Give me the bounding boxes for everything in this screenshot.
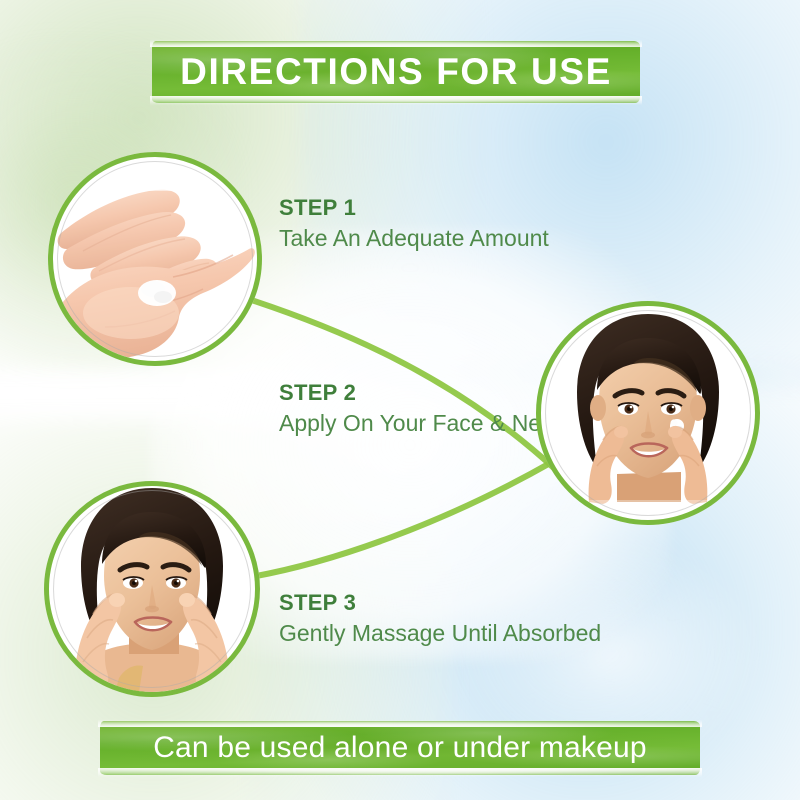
step-1-photo — [53, 157, 257, 361]
step-2-text-block: STEP 2 Apply On Your Face & Neck — [279, 381, 564, 437]
step-2-image-circle — [536, 301, 760, 525]
step-1-text-block: STEP 1 Take An Adequate Amount — [279, 196, 549, 252]
directions-for-use-poster: DIRECTIONS FOR USE — [0, 0, 800, 800]
footer-banner: Can be used alone or under makeup — [100, 721, 700, 775]
step-3-image-circle — [44, 481, 260, 697]
step-2-photo — [541, 306, 755, 520]
step-1-title: STEP 1 — [279, 196, 549, 219]
page-title: DIRECTIONS FOR USE — [180, 51, 612, 93]
step-1-image-circle — [48, 152, 262, 366]
title-banner: DIRECTIONS FOR USE — [152, 41, 640, 103]
step-1-description: Take An Adequate Amount — [279, 224, 549, 252]
step-3-text-block: STEP 3 Gently Massage Until Absorbed — [279, 591, 601, 647]
step-3-title: STEP 3 — [279, 591, 601, 614]
step-3-photo — [49, 486, 255, 692]
step-2-description: Apply On Your Face & Neck — [279, 409, 564, 437]
footer-tagline: Can be used alone or under makeup — [153, 731, 647, 765]
step-3-description: Gently Massage Until Absorbed — [279, 619, 601, 647]
connector-step3-to-step2 — [232, 462, 552, 580]
step-2-title: STEP 2 — [279, 381, 564, 404]
